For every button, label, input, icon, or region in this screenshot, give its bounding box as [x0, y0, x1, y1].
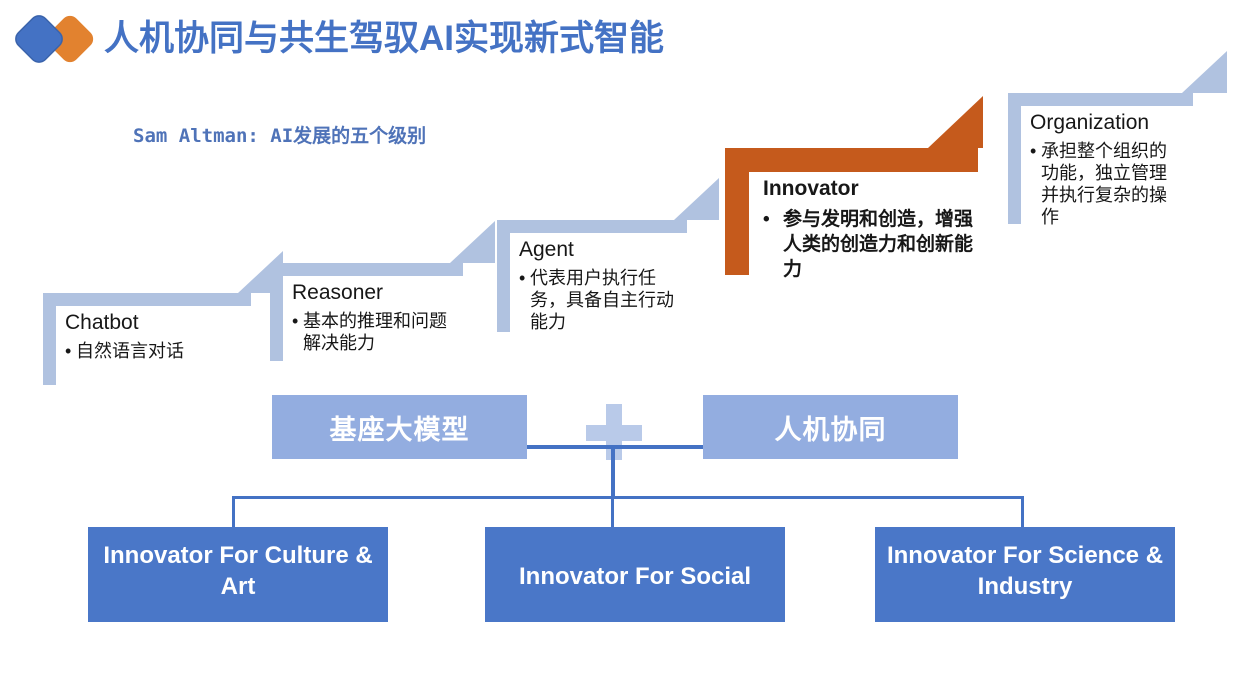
step-innovator[interactable]: Innovator • 参与发明和创造，增强人类的创造力和创新能力 — [725, 148, 978, 275]
connector-horizontal-between-mid-boxes — [527, 445, 703, 449]
step-top-bar — [270, 263, 463, 276]
step-organization[interactable]: Organization • 承担整个组织的功能，独立管理并执行复杂的操作 — [1008, 93, 1193, 224]
step-reasoner[interactable]: Reasoner • 基本的推理和问题解决能力 — [270, 263, 463, 361]
connector-vertical-mid-to-tree — [611, 445, 615, 499]
step-left-post — [725, 148, 749, 275]
connector-drop-center — [611, 496, 614, 529]
step-heading: Innovator — [763, 176, 859, 202]
leaf-social[interactable]: Innovator For Social 智能角色交互体 — [485, 527, 785, 653]
step-heading: Reasoner — [292, 280, 383, 306]
connector-tree-horizontal — [232, 496, 1024, 499]
step-chatbot[interactable]: Chatbot • 自然语言对话 — [43, 293, 251, 385]
mid-box-human-ai-collab-label: 人机协同 — [775, 408, 887, 447]
step-bullet-text: 基本的推理和问题解决能力 — [303, 310, 452, 354]
step-corner-triangle — [674, 178, 719, 220]
step-bullet-text: 参与发明和创造，增强人类的创造力和创新能力 — [783, 207, 981, 282]
step-corner-triangle — [1182, 51, 1227, 93]
slide-canvas: 人机协同与共生驾驭AI实现新式智能 Sam Altman: AI发展的五个级别 … — [0, 0, 1254, 696]
bullet-marker: • — [1030, 140, 1036, 162]
mid-box-foundation-model[interactable]: 基座大模型 — [272, 395, 527, 459]
step-left-post — [497, 220, 510, 332]
page-title: 人机协同与共生驾驭AI实现新式智能 — [104, 12, 804, 66]
double-diamond-logo — [8, 8, 100, 70]
step-heading: Agent — [519, 237, 574, 263]
step-left-post — [270, 263, 283, 361]
step-left-post — [1008, 93, 1021, 224]
step-bullet-text: 承担整个组织的功能，独立管理并执行复杂的操作 — [1041, 140, 1180, 228]
connector-drop-right — [1021, 496, 1024, 529]
leaf-social-title: Innovator For Social — [485, 527, 785, 622]
leaf-culture-art[interactable]: Innovator For Culture & Art 文、图、乐、剧 — [88, 527, 388, 653]
step-bullet-text: 自然语言对话 — [76, 340, 245, 362]
step-bullet: • 代表用户执行任务，具备自主行动能力 — [519, 267, 677, 333]
step-bullet: • 参与发明和创造，增强人类的创造力和创新能力 — [763, 207, 981, 282]
mid-box-foundation-model-label: 基座大模型 — [330, 408, 470, 447]
leaf-science-industry[interactable]: Innovator For Science & Industry 行业大模型 — [875, 527, 1175, 653]
mid-box-human-ai-collab[interactable]: 人机协同 — [703, 395, 958, 459]
step-bullet: • 自然语言对话 — [65, 340, 245, 362]
bullet-marker: • — [65, 340, 71, 362]
step-top-bar — [497, 220, 687, 233]
subtitle-label: Sam Altman: AI发展的五个级别 — [133, 121, 426, 148]
step-agent[interactable]: Agent • 代表用户执行任务，具备自主行动能力 — [497, 220, 687, 332]
step-top-bar — [725, 148, 978, 172]
step-top-bar — [1008, 93, 1193, 106]
step-top-bar — [43, 293, 251, 306]
step-heading: Organization — [1030, 110, 1149, 136]
step-bullet: • 承担整个组织的功能，独立管理并执行复杂的操作 — [1030, 140, 1180, 228]
bullet-marker: • — [292, 310, 298, 332]
leaf-science-industry-title: Innovator For Science & Industry — [875, 527, 1175, 622]
step-corner-triangle — [928, 96, 983, 148]
step-left-post — [43, 293, 56, 385]
step-bullet-text: 代表用户执行任务，具备自主行动能力 — [530, 267, 677, 333]
bullet-marker: • — [519, 267, 525, 289]
step-corner-triangle — [450, 221, 495, 263]
bullet-marker: • — [763, 207, 770, 232]
step-heading: Chatbot — [65, 310, 139, 336]
leaf-culture-art-title: Innovator For Culture & Art — [88, 527, 388, 622]
step-bullet: • 基本的推理和问题解决能力 — [292, 310, 452, 354]
connector-drop-left — [232, 496, 235, 529]
